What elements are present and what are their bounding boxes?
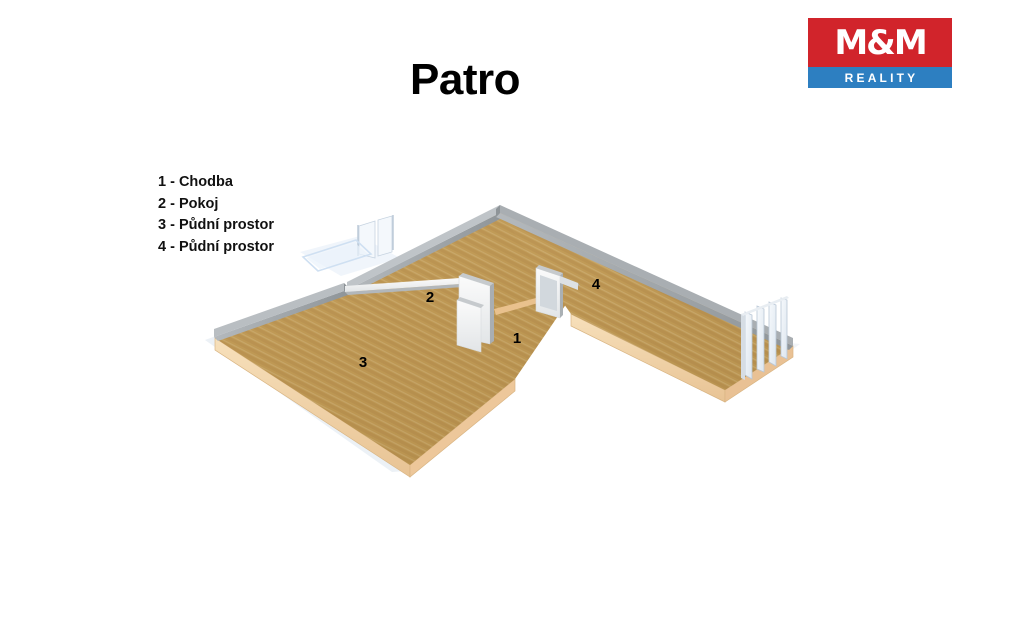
hall-wall-left-side — [490, 283, 494, 344]
room-number-3: 3 — [359, 354, 367, 371]
hall-stub-wall-face — [457, 300, 481, 352]
room-number-1: 1 — [513, 330, 521, 347]
floorplan-page: Patro 1 - Chodba 2 - Pokoj 3 - Půdní pro… — [0, 0, 1024, 620]
room-number-4: 4 — [592, 276, 601, 293]
door-opening-recess — [540, 275, 557, 311]
glass-mullion-vertical — [741, 314, 745, 380]
glass-panel-4 — [781, 298, 787, 359]
glass-panel-2 — [757, 306, 764, 372]
glass-panel-3 — [769, 302, 776, 366]
room-number-2: 2 — [426, 289, 434, 306]
floorplan-3d-render: 3 2 1 4 — [0, 0, 1024, 620]
glass-panel-1 — [745, 312, 752, 379]
skylight-panel-right — [378, 216, 392, 256]
